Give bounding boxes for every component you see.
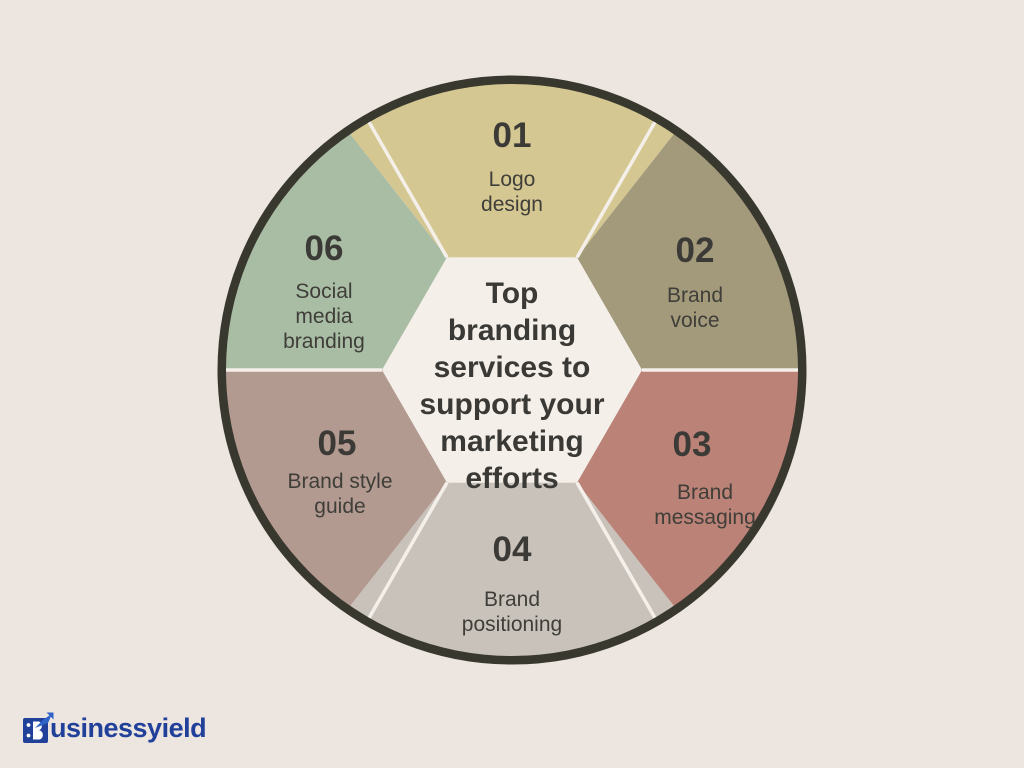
businessyield-logo[interactable]: usinessyield [22, 706, 206, 750]
center-line-3: services to [434, 351, 591, 384]
center-line-2: branding [448, 314, 576, 347]
segment-06-number: 06 [305, 229, 344, 268]
segment-04-label-line-1: Brand [484, 588, 540, 611]
center-line-1: Top [486, 277, 539, 310]
segment-05-label-line-2: guide [314, 495, 365, 518]
segment-01-label-line-2: design [481, 193, 543, 216]
segment-04-number: 04 [493, 530, 532, 569]
segment-06-label-line-3: branding [283, 330, 365, 353]
segment-04-label-line-2: positioning [462, 613, 562, 636]
segment-03-number: 03 [673, 425, 712, 464]
segment-01-label-line-1: Logo [489, 168, 536, 191]
segment-06-label-line-2: media [295, 305, 353, 328]
center-line-4: support your [420, 388, 605, 421]
logo-wordmark: usinessyield [50, 715, 206, 742]
segment-06-label-line-1: Social [295, 280, 352, 303]
center-line-5: marketing [440, 425, 583, 458]
segment-03-label-line-1: Brand [677, 481, 733, 504]
segment-02-number: 02 [676, 231, 715, 270]
segment-01-number: 01 [493, 116, 532, 155]
segment-03-label-line-2: messaging [654, 506, 756, 529]
segment-02-label-line-2: voice [670, 309, 719, 332]
center-line-6: efforts [465, 462, 558, 495]
segment-02-label-line-1: Brand [667, 284, 723, 307]
infographic-diagram: 01 Logo design 02 Brand voice 03 Brand m… [0, 0, 1024, 768]
logo-b-mark-icon [22, 711, 56, 745]
hexagon-wheel-chart: 01 Logo design 02 Brand voice 03 Brand m… [0, 0, 1024, 768]
segment-05-number: 05 [318, 424, 357, 463]
segment-05-label-line-1: Brand style [287, 470, 392, 493]
